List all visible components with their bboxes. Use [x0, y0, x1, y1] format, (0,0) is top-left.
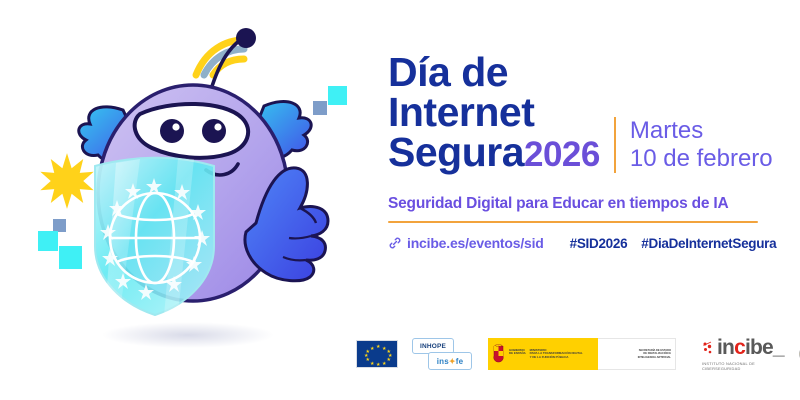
hashtag-diadeinternetsegura[interactable]: #DiaDeInternetSegura: [641, 236, 776, 251]
chain-link-icon: [388, 236, 402, 250]
logo-strip: ★ ★ ★ ★ ★ ★ ★ ★ ★ ★ ★ ★ INHOPE ins✦: [356, 330, 786, 378]
inhope-insafe-logo: INHOPE ins✦fe: [398, 338, 470, 370]
event-subtitle: Seguridad Digital para Educar en tiempos…: [388, 195, 768, 213]
incibe-wordmark: incibe_: [717, 337, 784, 358]
event-banner: Día de Internet Segura2026 Martes 10 de …: [0, 0, 800, 400]
hashtag-sid2026[interactable]: #SID2026: [570, 236, 628, 251]
title-line-2: Internet: [388, 92, 600, 132]
divider-rule: [388, 221, 758, 223]
links-row: incibe.es/eventos/sid #SID2026 #DiaDeInt…: [388, 235, 768, 251]
spain-coat-of-arms-icon: [491, 344, 506, 364]
event-date: Martes 10 de febrero: [614, 117, 773, 173]
title-block: Día de Internet Segura2026 Martes 10 de …: [388, 52, 768, 175]
date-weekday: Martes: [630, 117, 773, 145]
title-line-1: Día de: [388, 52, 600, 92]
incibe-logo: incibe_ INSTITUTO NACIONAL DE CIBERSEGUR…: [702, 337, 784, 371]
gob-col-2: MINISTERIOPARA LA TRANSFORMACIÓN DIGITAL…: [530, 349, 583, 360]
gob-col-1: GOBIERNODE ESPAÑA: [509, 349, 526, 360]
title-year: 2026: [524, 135, 600, 174]
insafe-label: ins✦fe: [437, 357, 464, 366]
title-line-3: Segura2026: [388, 132, 600, 175]
event-text-block: Día de Internet Segura2026 Martes 10 de …: [388, 52, 768, 251]
insafe-badge: ins✦fe: [428, 352, 472, 370]
european-union-flag: ★ ★ ★ ★ ★ ★ ★ ★ ★ ★ ★ ★: [356, 340, 398, 368]
incibe-tagline: INSTITUTO NACIONAL DE CIBERSEGURIDAD: [702, 361, 784, 371]
event-title: Día de Internet Segura2026: [388, 52, 600, 175]
hashtags: #SID2026 #DiaDeInternetSegura: [570, 236, 777, 251]
inhope-label: INHOPE: [420, 343, 446, 350]
internet-safety-mascot: [28, 18, 378, 363]
event-url[interactable]: incibe.es/eventos/sid: [407, 235, 544, 251]
incibe-mark-icon: [702, 341, 714, 355]
gob-white-panel: SECRETARÍA DE ESTADODE DIGITALIZACIÓN EI…: [598, 338, 676, 370]
gob-yellow-panel: GOBIERNODE ESPAÑA MINISTERIOPARA LA TRAN…: [488, 338, 598, 370]
gob-col-3: SECRETARÍA DE ESTADODE DIGITALIZACIÓN EI…: [638, 349, 671, 359]
badge-017: 017: [784, 334, 800, 374]
eu-flag-icon: ★ ★ ★ ★ ★ ★ ★ ★ ★ ★ ★ ★: [356, 340, 398, 368]
date-day-month: 10 de febrero: [630, 145, 773, 173]
gobierno-de-espana-logo: GOBIERNODE ESPAÑA MINISTERIOPARA LA TRAN…: [488, 338, 676, 370]
